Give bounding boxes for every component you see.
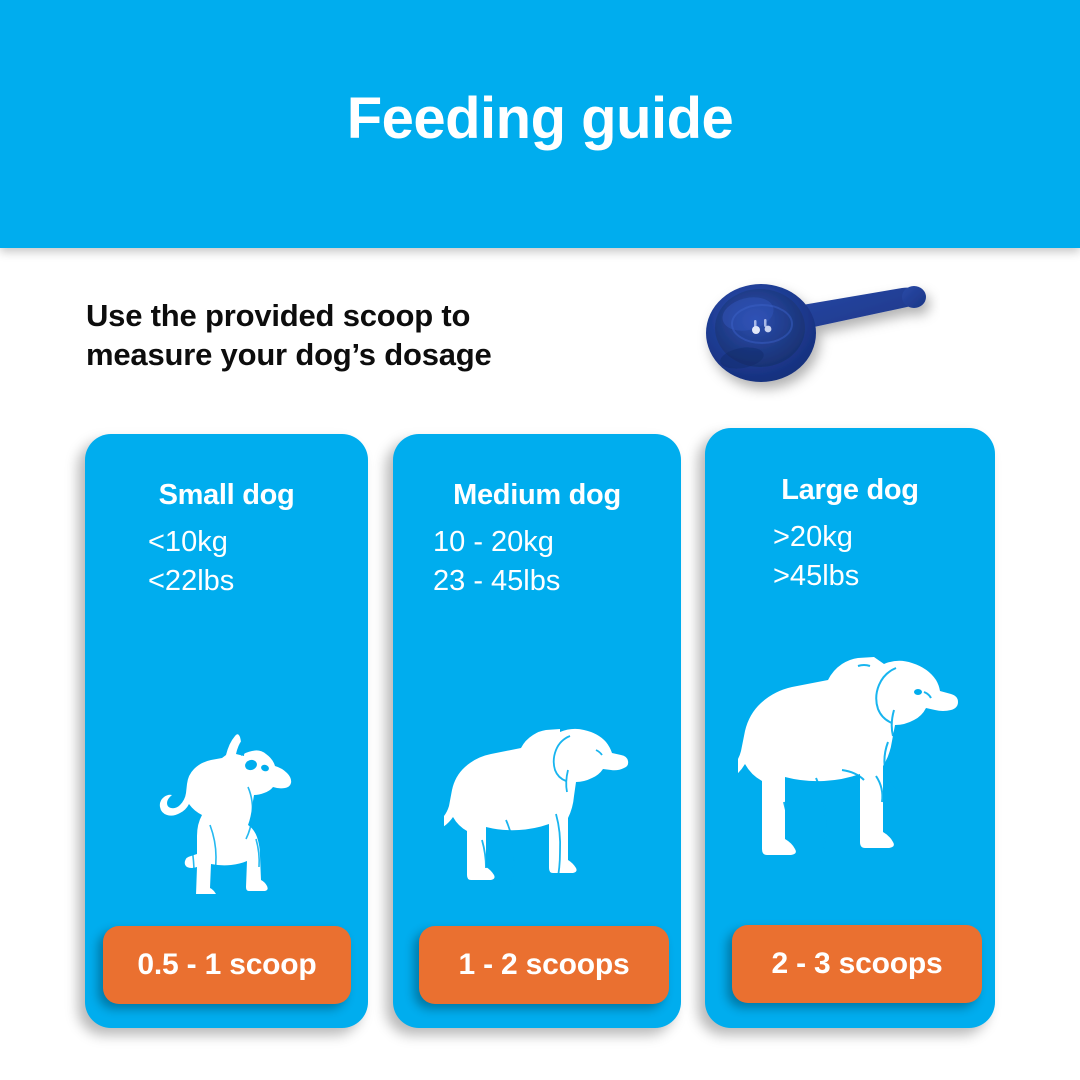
weight-lbs-small-dog: <22lbs <box>148 562 234 601</box>
dosage-button-small-dog[interactable]: 0.5 - 1 scoop <box>103 926 351 1004</box>
card-title-large-dog: Large dog <box>705 474 995 507</box>
weight-lbs-medium-dog: 23 - 45lbs <box>433 562 560 601</box>
weight-range-small-dog: <10kg <22lbs <box>148 523 234 600</box>
large-dog-great-dane-icon <box>705 628 995 890</box>
dosage-button-medium-dog[interactable]: 1 - 2 scoops <box>419 926 669 1004</box>
card-title-medium-dog: Medium dog <box>393 479 681 512</box>
small-dog-chihuahua-icon <box>85 704 368 894</box>
weight-kg-large-dog: >20kg <box>773 518 859 557</box>
feeding-card-medium-dog[interactable]: Medium dog 10 - 20kg 23 - 45lbs 1 - 2 <box>393 434 681 1028</box>
medium-dog-labrador-icon <box>393 684 681 894</box>
card-title-small-dog: Small dog <box>85 479 368 512</box>
feeding-cards-container: Small dog <10kg <22lbs <box>0 0 1080 1080</box>
dosage-button-large-dog[interactable]: 2 - 3 scoops <box>732 925 982 1003</box>
weight-range-medium-dog: 10 - 20kg 23 - 45lbs <box>433 523 560 600</box>
weight-kg-small-dog: <10kg <box>148 523 234 562</box>
weight-kg-medium-dog: 10 - 20kg <box>433 523 560 562</box>
feeding-card-small-dog[interactable]: Small dog <10kg <22lbs <box>85 434 368 1028</box>
weight-range-large-dog: >20kg >45lbs <box>773 518 859 595</box>
weight-lbs-large-dog: >45lbs <box>773 557 859 596</box>
feeding-card-large-dog[interactable]: Large dog >20kg >45lbs <box>705 428 995 1028</box>
